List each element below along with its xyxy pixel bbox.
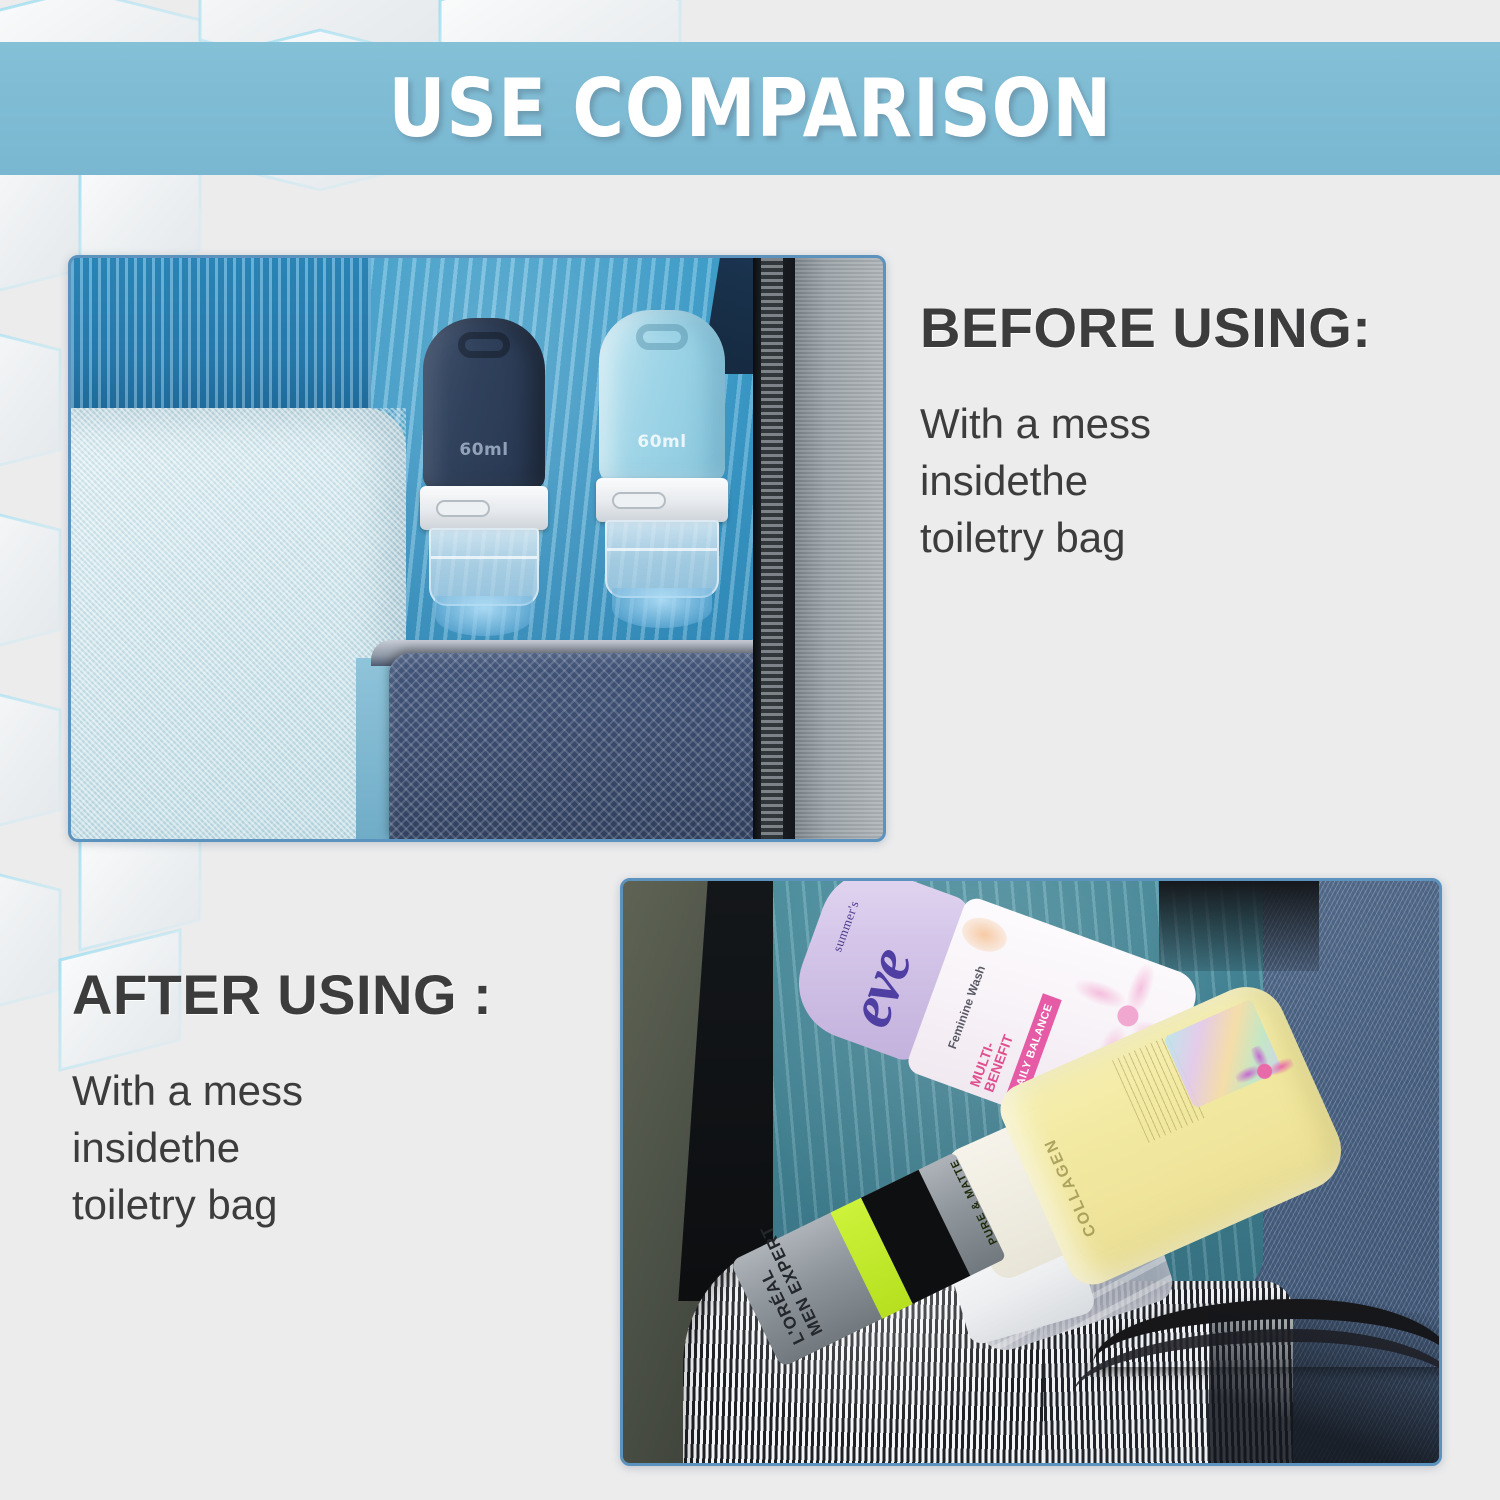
- bottle-hang-loop: [458, 332, 510, 358]
- after-using-text-block: AFTER USING : With a mess insidethe toil…: [72, 962, 612, 1233]
- after-using-body: With a mess insidethe toiletry bag: [72, 1062, 612, 1233]
- bottle-collar: [596, 478, 728, 522]
- eve-brand-label: eve: [834, 940, 927, 1036]
- after-using-photo: summer's eve Feminine Wash MULTI- BENEFI…: [620, 878, 1442, 1466]
- before-using-photo: 60ml 60ml: [68, 255, 886, 842]
- bottle-hang-loop: [636, 324, 688, 350]
- bottle-volume-label: 60ml: [459, 440, 508, 460]
- collagen-brand-label: COLLAGEN: [1041, 1135, 1100, 1239]
- suitcase-scene: 60ml 60ml: [71, 258, 883, 839]
- bottle-liquid-drop: [435, 596, 533, 636]
- bottle-clear-cap: [605, 520, 719, 598]
- bottle-collar-slot: [612, 492, 666, 509]
- suitcase-grey-shell-edge: [795, 258, 883, 839]
- page-title: USE COMPARISON: [388, 62, 1112, 155]
- before-using-text-block: BEFORE USING: With a mess insidethe toil…: [920, 295, 1460, 566]
- before-using-body: With a mess insidethe toiletry bag: [920, 395, 1460, 566]
- bag-shadow-corner: [1209, 1313, 1439, 1463]
- bottle-volume-label: 60ml: [637, 432, 686, 452]
- after-using-heading: AFTER USING :: [72, 962, 612, 1027]
- before-using-heading: BEFORE USING:: [920, 295, 1460, 360]
- bottle-body: 60ml: [599, 310, 725, 482]
- bottle-collar-slot: [436, 500, 490, 517]
- bottle-liquid-drop: [612, 588, 713, 628]
- suitcase-zipper: [753, 258, 795, 839]
- eve-product-type-label: Feminine Wash: [945, 964, 988, 1051]
- header-banner: USE COMPARISON: [0, 42, 1500, 175]
- blue-ribbed-garment: [71, 258, 401, 433]
- dark-bag-shadow-top: [1159, 881, 1319, 971]
- eve-peach-accent: [957, 912, 1011, 958]
- bottle-body: 60ml: [423, 318, 545, 490]
- bottle-collar: [420, 486, 548, 530]
- bottle-clear-cap: [429, 528, 539, 606]
- infographic-page: USE COMPARISON 60ml: [0, 0, 1500, 1500]
- travel-bag-scene: summer's eve Feminine Wash MULTI- BENEFI…: [623, 881, 1439, 1463]
